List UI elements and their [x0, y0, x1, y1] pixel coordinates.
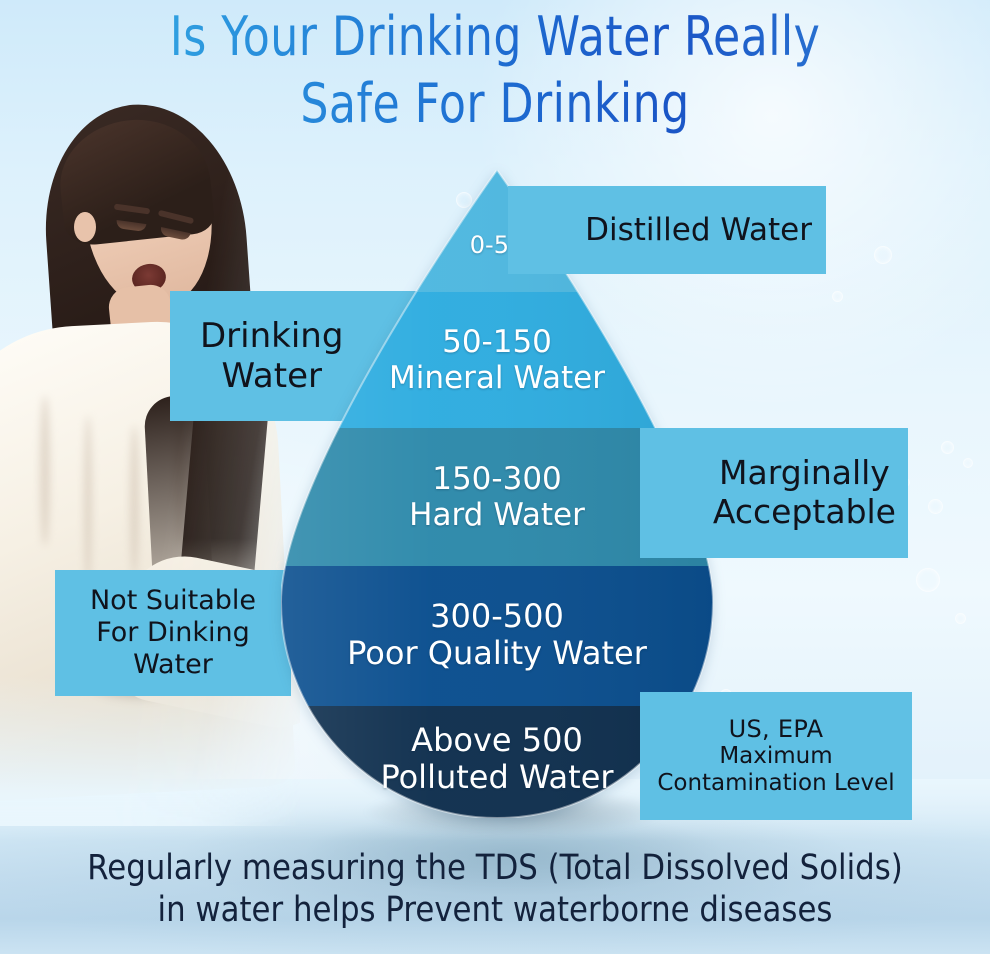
label-band-distilled-water: Distilled Water [508, 186, 826, 274]
label-band-epa-limit: US, EPA Maximum Contamination Level [640, 692, 912, 820]
label-band-not-suitable: Not Suitable For Dinking Water [55, 570, 291, 696]
infographic-canvas: Is Your Drinking Water Really Safe For D… [0, 0, 990, 954]
page-title: Is Your Drinking Water Really Safe For D… [89, 4, 901, 138]
epa-line-2: Maximum [719, 743, 832, 770]
epa-line-3: Contamination Level [657, 770, 894, 797]
ear [74, 212, 96, 242]
bubble-icon [874, 246, 892, 264]
bubble-icon [916, 568, 940, 592]
bubble-icon [928, 499, 943, 514]
sweater-fold [84, 416, 92, 586]
bubble-icon [832, 291, 843, 302]
sweater-fold [130, 426, 139, 576]
bubble-icon [941, 441, 954, 454]
label-band-marginally-acceptable: Marginally Acceptable [640, 428, 908, 558]
epa-line-1: US, EPA [729, 715, 824, 743]
footer-caption: Regularly measuring the TDS (Total Disso… [59, 847, 930, 932]
sweater-fold [40, 396, 50, 546]
woman-stomach-ache-photo [0, 96, 300, 826]
bubble-icon [963, 458, 973, 468]
bubble-icon [955, 613, 966, 624]
